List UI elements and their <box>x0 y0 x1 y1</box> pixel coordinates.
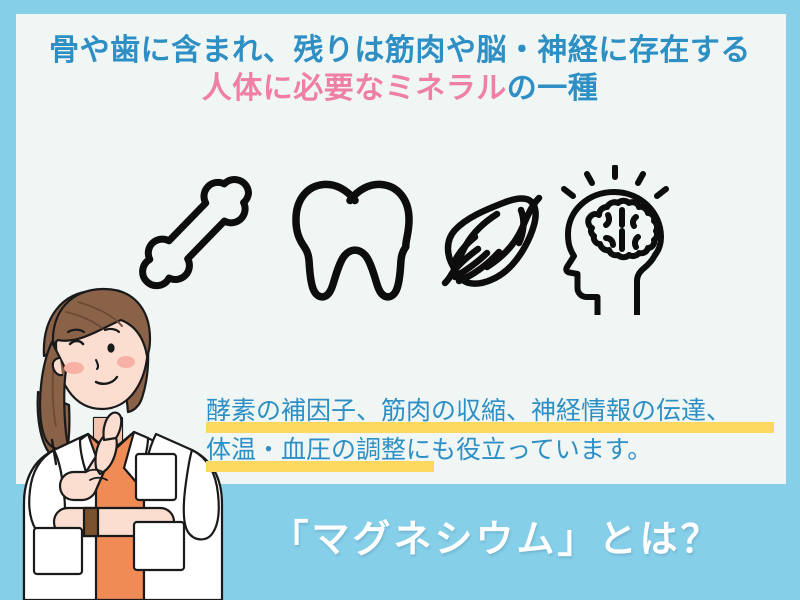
headline-line-2-tail: の一種 <box>507 72 599 105</box>
page-title: 「マグネシウム」とは？ <box>206 508 786 563</box>
headline-line-2: 人体に必要なミネラルの一種 <box>0 70 800 108</box>
muscle-icon <box>415 165 565 315</box>
body-copy-line-2: 体温・血圧の調整にも役立っています。 <box>206 431 786 470</box>
headline-line-1: 骨や歯に含まれ、残りは筋肉や脳・神経に存在する <box>0 32 800 70</box>
brain-head-icon <box>550 165 700 315</box>
headline: 骨や歯に含まれ、残りは筋肉や脳・神経に存在する 人体に必要なミネラルの一種 <box>0 32 800 109</box>
body-copy-line-2-text: 体温・血圧の調整にも役立っています。 <box>206 436 652 464</box>
headline-line-2-emphasis: 人体に必要なミネラル <box>202 72 507 105</box>
tooth-icon <box>280 165 430 315</box>
woman-in-lab-coat-thinking-illustration <box>8 272 238 600</box>
slide-canvas: 骨や歯に含まれ、残りは筋肉や脳・神経に存在する 人体に必要なミネラルの一種 <box>0 0 800 600</box>
body-copy-line-1: 酵素の補因子、筋肉の収縮、神経情報の伝達、 <box>206 392 786 431</box>
body-copy: 酵素の補因子、筋肉の収縮、神経情報の伝達、 体温・血圧の調整にも役立っています。 <box>206 392 786 470</box>
body-copy-line-1-text: 酵素の補因子、筋肉の収縮、神経情報の伝達、 <box>206 397 731 425</box>
